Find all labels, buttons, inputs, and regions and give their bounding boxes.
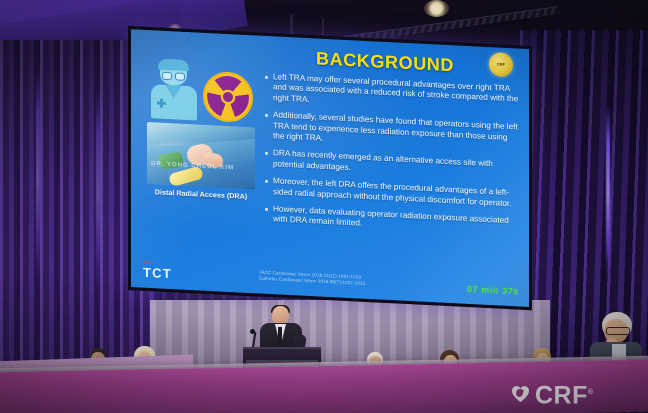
slide-bullet-list: Left TRA may offer several procedural ad…: [264, 72, 519, 245]
projection-screen-area: CRF BACKGROUND: [128, 26, 538, 326]
crf-logo-text: CRF®: [535, 380, 594, 408]
slide-icon-row: [147, 58, 255, 125]
slide-title: BACKGROUND: [316, 48, 454, 76]
radiation-hazard-icon: [203, 71, 253, 124]
tct-logo-text: TCT: [143, 265, 172, 281]
crf-logo: CRF®: [512, 380, 594, 408]
presentation-slide: CRF BACKGROUND: [131, 29, 529, 307]
graphic-caption: Distal Radial Access (DRA): [147, 188, 255, 202]
accent-light-strip: [36, 70, 40, 280]
presenter-tie: [278, 327, 282, 343]
conference-badge-icon: CRF: [489, 52, 513, 77]
projection-screen: CRF BACKGROUND: [128, 26, 532, 310]
list-item: Left TRA may offer several procedural ad…: [264, 72, 519, 116]
list-item: However, data evaluating operator radiat…: [264, 204, 519, 238]
list-item: Additionally, several studies have found…: [264, 110, 519, 154]
eyeglasses-icon: [606, 327, 630, 335]
eyeglasses-icon: [162, 72, 172, 81]
eyeglasses-icon: [175, 72, 185, 81]
slide-graphic-column: DR. YONG CHEOL KIM Distal Radial Access …: [147, 58, 255, 202]
presentation-timer: 07 min 37s: [467, 284, 519, 297]
physician-icon: [151, 58, 197, 120]
microphone-icon: [250, 329, 255, 334]
registered-mark: ®: [588, 389, 594, 396]
conference-badge-label: CRF: [497, 62, 505, 66]
slide-citations: JACC Cardiovasc Interv 2016;11(11):1021-…: [259, 270, 365, 287]
accent-light-strip: [606, 105, 610, 275]
list-item: Moreover, the left DRA offers the proced…: [264, 176, 519, 210]
catheterization-photo: DR. YONG CHEOL KIM: [147, 122, 255, 189]
conference-room-photo: CRF BACKGROUND: [0, 0, 648, 413]
accent-light-strip: [96, 90, 100, 290]
crf-heart-icon: [512, 385, 531, 403]
tct-logo: TCT TCT: [143, 260, 172, 283]
radiation-core: [223, 92, 233, 103]
spotlight-icon: [424, 0, 449, 17]
crf-wordmark: CRF: [535, 381, 588, 409]
medical-cross-icon: [157, 98, 166, 107]
surgical-cap-icon: [158, 59, 189, 72]
